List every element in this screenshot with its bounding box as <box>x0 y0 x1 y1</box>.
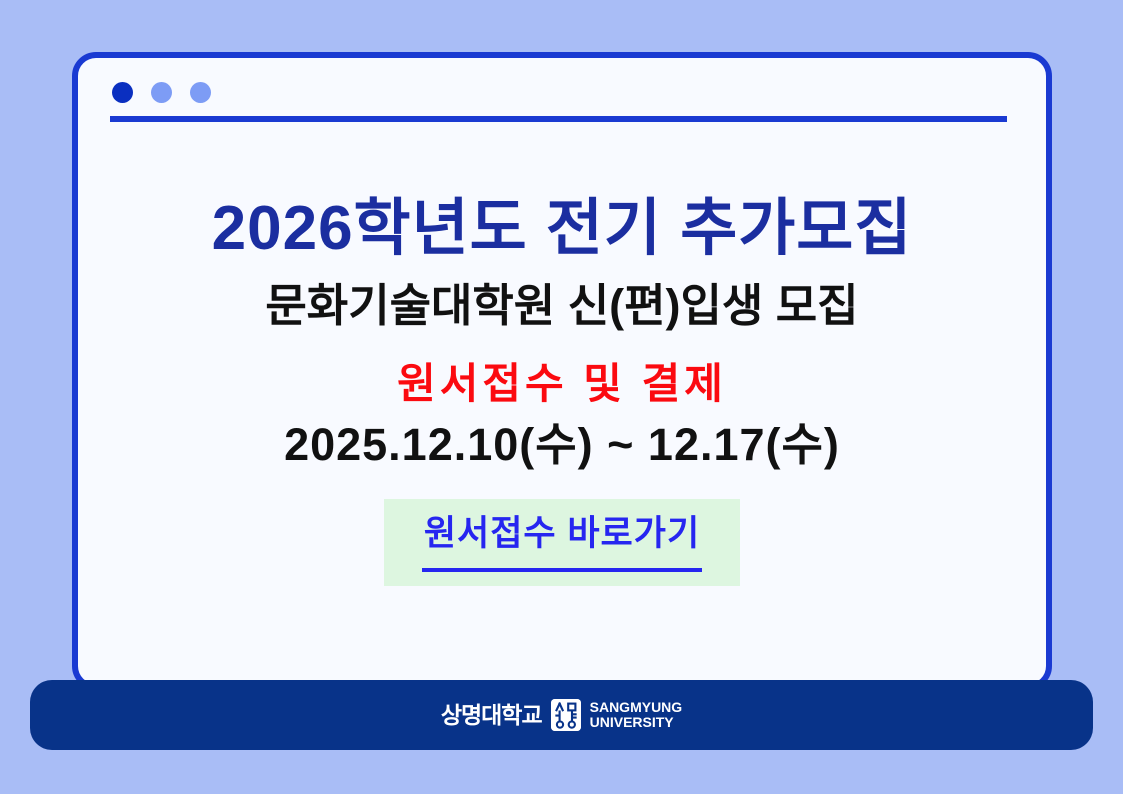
browser-card: 2026학년도 전기 추가모집 문화기술대학원 신(편)입생 모집 원서접수 및… <box>72 52 1052 690</box>
brand-en-line2: UNIVERSITY <box>590 715 683 730</box>
sangmyung-logo-icon <box>551 699 581 731</box>
window-dot-close-icon[interactable] <box>112 82 133 103</box>
poster-canvas: 2026학년도 전기 추가모집 문화기술대학원 신(편)입생 모집 원서접수 및… <box>0 0 1123 794</box>
apply-link-label: 원서접수 바로가기 <box>424 515 700 554</box>
university-footer-bar: 상명대학교 <box>30 680 1093 750</box>
university-brand-lockup: 상명대학교 <box>441 699 682 731</box>
apply-link-underline <box>422 568 702 572</box>
page-subtitle: 문화기술대학원 신(편)입생 모집 <box>265 281 858 331</box>
window-controls <box>112 82 211 103</box>
apply-link-button[interactable]: 원서접수 바로가기 <box>384 499 740 586</box>
application-date-range: 2025.12.10(수) ~ 12.17(수) <box>284 420 840 470</box>
window-dot-minimize-icon[interactable] <box>151 82 172 103</box>
window-dot-maximize-icon[interactable] <box>190 82 211 103</box>
poster-content: 2026학년도 전기 추가모집 문화기술대학원 신(편)입생 모집 원서접수 및… <box>78 150 1046 684</box>
brand-name-english: SANGMYUNG UNIVERSITY <box>590 700 683 730</box>
application-notice: 원서접수 및 결제 <box>397 361 727 407</box>
chrome-divider <box>110 116 1007 122</box>
page-title: 2026학년도 전기 추가모집 <box>212 196 913 261</box>
brand-en-line1: SANGMYUNG <box>590 700 683 715</box>
brand-name-korean: 상명대학교 <box>441 704 542 727</box>
